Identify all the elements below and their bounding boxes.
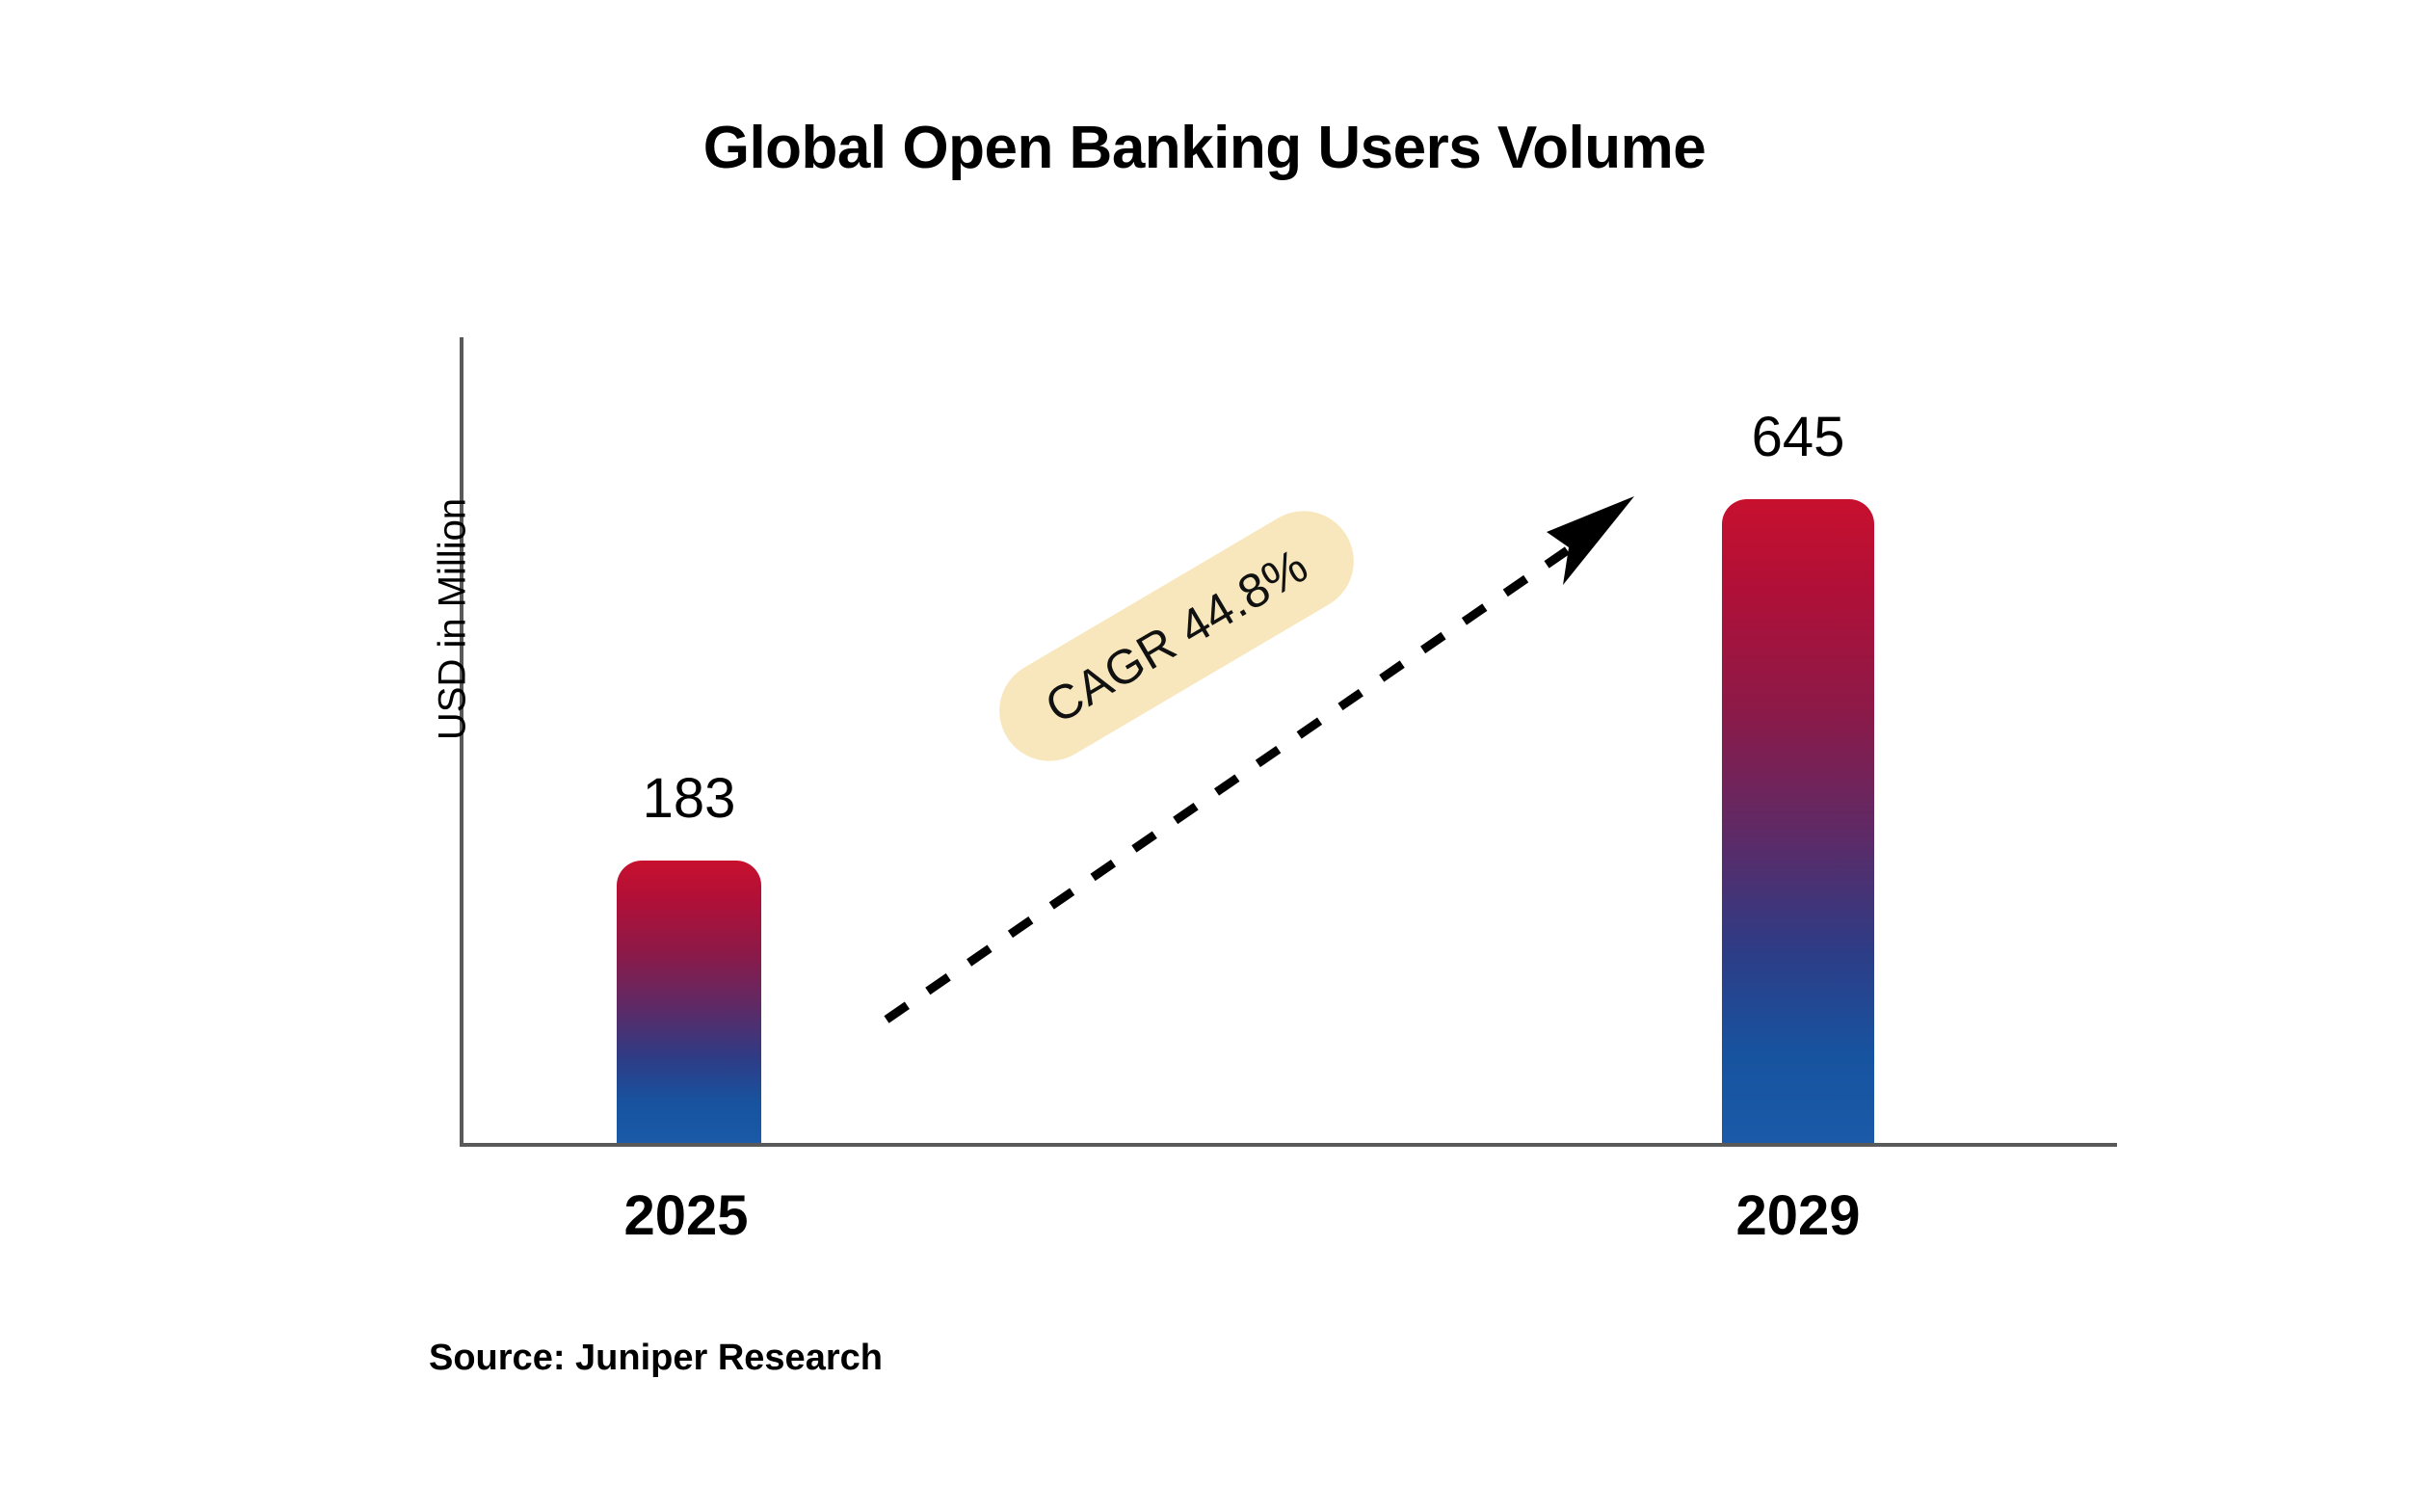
x-axis-label-2029: 2029 [1663, 1183, 1933, 1248]
bar-value-label-2025: 183 [554, 766, 824, 831]
x-axis-label-2025: 2025 [551, 1183, 821, 1248]
x-axis-line [460, 1143, 2117, 1147]
y-axis-title: USD in Million [432, 456, 475, 783]
cagr-badge-label: CAGR 44.8% [1036, 538, 1317, 735]
source-note: Source: Juniper Research [429, 1338, 883, 1379]
bar-2029[interactable] [1722, 499, 1874, 1143]
chart-title: Global Open Banking Users Volume [0, 114, 2409, 182]
cagr-badge: CAGR 44.8% [981, 492, 1372, 780]
bar-value-label-2029: 645 [1663, 405, 1933, 469]
chart-canvas: Global Open Banking Users Volume USD in … [0, 0, 2409, 1512]
bar-2025[interactable] [617, 861, 761, 1143]
